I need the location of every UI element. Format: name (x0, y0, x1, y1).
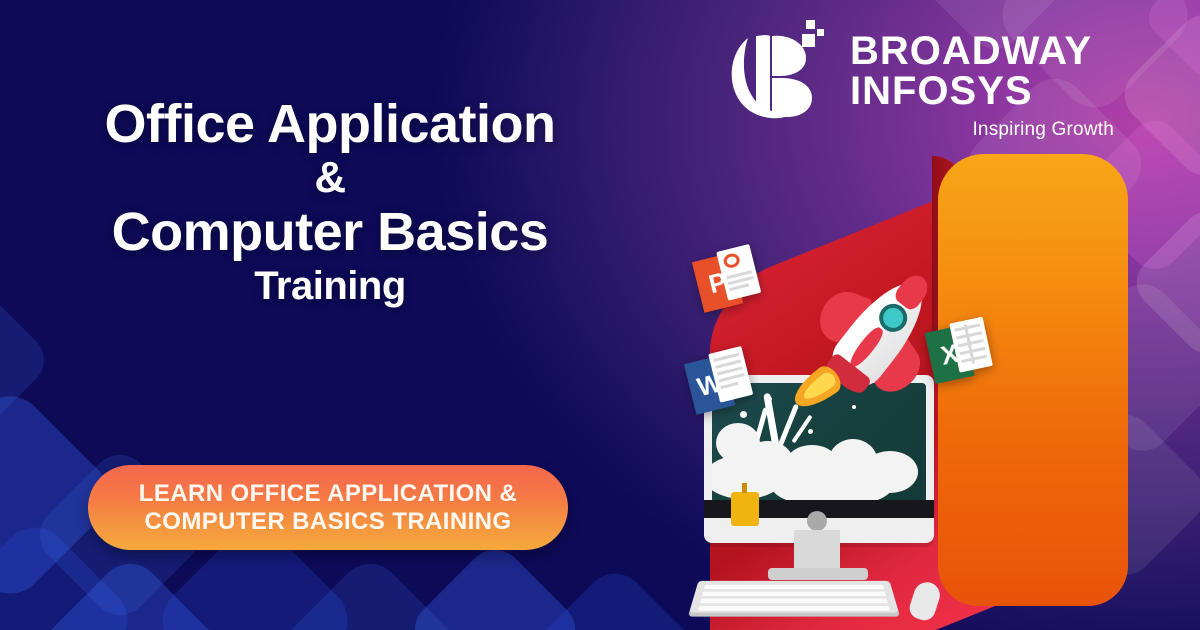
word-icon-line (720, 382, 738, 389)
headline-line-1: Office Application (0, 96, 660, 153)
decorative-diamond (516, 561, 714, 630)
screen-smoke-cloud (772, 467, 892, 503)
brand-tagline: Inspiring Growth (850, 119, 1120, 141)
brand-logo-text: BROADWAY INFOSYS Inspiring Growth (850, 32, 1120, 141)
powerpoint-icon-line (729, 283, 749, 291)
brand-logo[interactable]: BROADWAY INFOSYS Inspiring Growth (722, 14, 1122, 154)
headline-ampersand: & (0, 155, 660, 202)
decorative-diamond (31, 551, 229, 630)
screen-star (808, 429, 813, 434)
monitor-stand-hinge (807, 511, 827, 531)
brand-name-line-1: BROADWAY (850, 32, 1120, 71)
cta-line-1: LEARN OFFICE APPLICATION & (139, 480, 517, 508)
headline-line-2: Computer Basics (0, 204, 660, 261)
word-icon-line (719, 373, 745, 382)
rocket-computer-illustration: P W X (690, 230, 1030, 610)
headline-block: Office Application & Computer Basics Tra… (0, 96, 660, 307)
decorative-diamond (403, 538, 587, 630)
keyboard (689, 581, 899, 613)
broadway-b-monogram-icon (722, 18, 834, 130)
learn-course-cta-button[interactable]: LEARN OFFICE APPLICATION & COMPUTER BASI… (88, 465, 568, 550)
keyboard-key-row (698, 606, 890, 611)
monitor-yellow-tag (731, 492, 759, 526)
powerpoint-pie-shape (722, 252, 741, 269)
excel-icon: X (925, 320, 998, 390)
powerpoint-icon: P (692, 247, 766, 318)
keyboard-key-row (702, 592, 886, 596)
keyboard-key-row (700, 599, 888, 604)
monitor-base (768, 568, 868, 580)
headline-line-3: Training (0, 265, 660, 307)
monitor-stand (794, 530, 840, 572)
cta-line-2: COMPUTER BASICS TRAINING (145, 508, 512, 536)
decorative-diamond (1140, 0, 1200, 85)
decorative-diamond (271, 551, 469, 630)
keyboard-key-row (704, 585, 884, 589)
brand-name-line-2: INFOSYS (850, 71, 1120, 112)
screen-star (740, 411, 747, 418)
course-promo-banner: Office Application & Computer Basics Tra… (0, 0, 1200, 630)
